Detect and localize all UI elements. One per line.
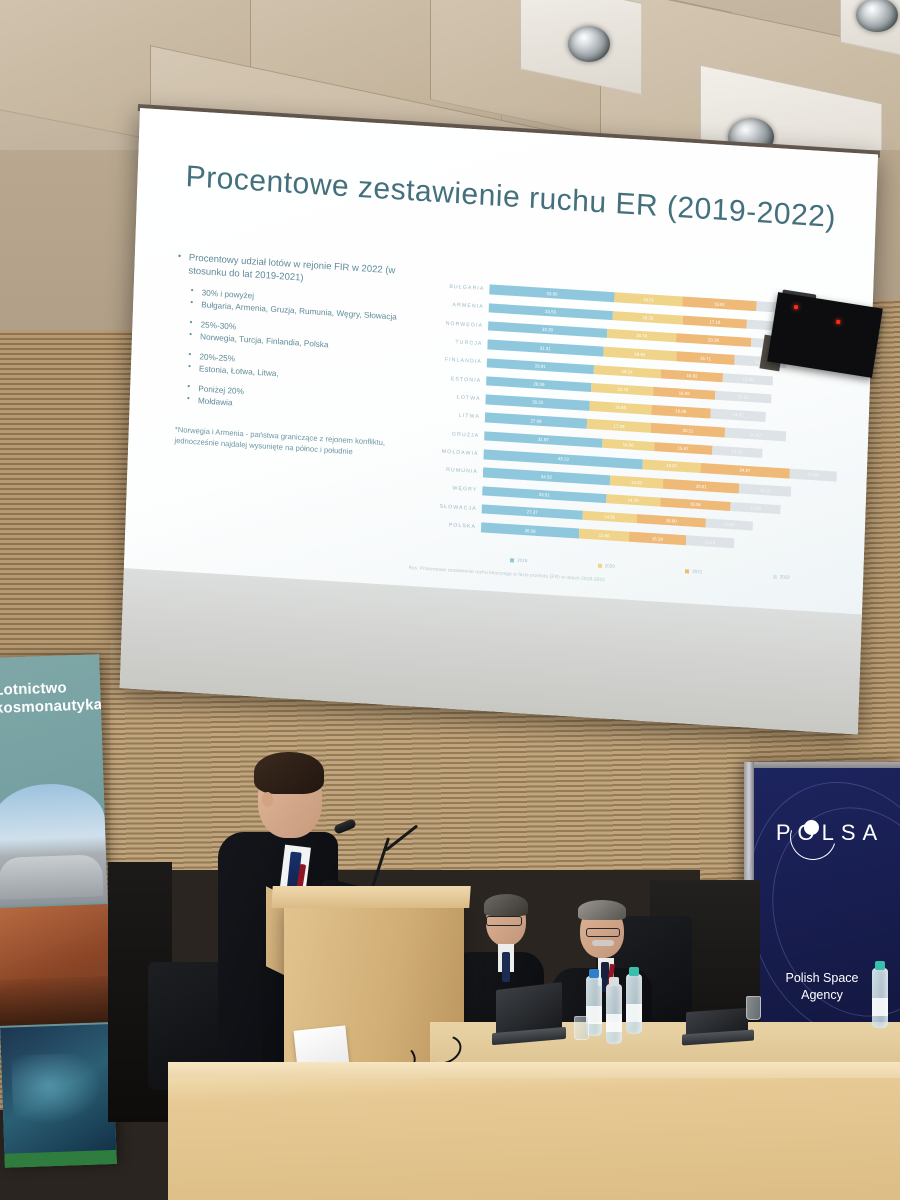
chart-legend-label: 2021 [692, 569, 702, 575]
chart-legend-item: 2021 [685, 568, 702, 574]
banner-left-accent-bar [4, 1150, 116, 1168]
banner-left-title: Lotnictwo kosmonautyka [0, 678, 99, 717]
chart-bar-segment: 16.92 [661, 369, 724, 382]
chart-bar-segment: 13.45 [723, 373, 773, 386]
chart-bar-segment: 15.67 [643, 459, 701, 472]
chart-bar-segment: 13.60 [730, 502, 781, 515]
chart-legend-item: 2019 [510, 557, 527, 563]
chart-bar-segment: 13.55 [712, 445, 762, 458]
chart-bar-segment: 14.06 [602, 439, 654, 452]
ceiling-downlight [568, 26, 610, 62]
chart-bar-segment: 26.58 [481, 523, 579, 539]
banner-right-top-rail [750, 762, 900, 768]
chart-category-label: POLSKA [414, 520, 481, 530]
banner-left-images [0, 782, 117, 1168]
glasses-icon [486, 916, 522, 926]
conference-hall-photo: Procentowe zestawienie ruchu ER (2019-20… [0, 0, 900, 1200]
led-indicator-icon [794, 305, 799, 310]
chart-category-label: SŁOWACJA [415, 502, 482, 512]
chart-category-label: MOŁDAWIA [417, 447, 484, 457]
chart-category-label: WĘGRY [415, 484, 482, 494]
chart-legend-swatch [598, 563, 602, 567]
chart-legend-item: 2022 [773, 574, 790, 580]
glasses-icon [586, 928, 620, 937]
chart-bar-segment: 16.75 [592, 383, 654, 396]
chart-legend-swatch [773, 574, 777, 578]
drinking-glass [746, 996, 761, 1020]
chart-bar-segment: 18.24 [593, 365, 661, 379]
chart-legend-swatch [685, 569, 689, 573]
chart-category-label: NORWEGIA [421, 319, 488, 329]
chart-legend-label: 2019 [517, 558, 527, 564]
chart-bar-segment: 13.10 [685, 535, 734, 548]
chart-bar-segment: 14.55 [583, 511, 637, 524]
chart-legend: 2019202020212022 [475, 555, 825, 582]
chart-bar-segment: 16.40 [725, 428, 786, 441]
chart-bar-segment: 18.51 [614, 293, 683, 307]
chart-bar-segment: 12.80 [789, 469, 837, 481]
chart-bar-segment: 27.69 [485, 413, 587, 429]
banner-photo-control-room [0, 1024, 116, 1158]
chart-bar-segment: 24.07 [700, 463, 789, 478]
moustache [592, 940, 614, 946]
led-indicator-icon [836, 320, 841, 325]
chart-bar-segment: 14.10 [739, 484, 791, 497]
slide-footnote: *Norwegia i Armenia - państwa graniczące… [174, 425, 404, 460]
water-bottle [606, 984, 622, 1044]
chart-legend-swatch [510, 558, 514, 562]
chart-bar-segment: 15.71 [676, 352, 734, 365]
chart-bar-segment: 18.74 [607, 329, 676, 343]
panel-table-front [168, 1078, 900, 1200]
chart-bar-segment: 16.68 [590, 401, 652, 414]
chart-bar-segment: 17.29 [587, 419, 651, 433]
drinking-glass [574, 1016, 589, 1040]
chart-category-label: ESTONIA [419, 374, 486, 384]
chart-bar-segment: 19.06 [660, 497, 731, 511]
chart-bar-segment: 28.22 [485, 395, 589, 411]
chart-category-label: BUŁGARIA [422, 282, 489, 292]
chart-category-label: ARMENIA [422, 301, 489, 311]
chart-category-label: GRUZJA [417, 429, 484, 439]
chart-legend-label: 2022 [780, 574, 790, 580]
chart-category-label: ŁOTWA [418, 392, 485, 402]
chart-bar-segment: 20.61 [663, 479, 739, 493]
banner-left-title-line2: kosmonautyka [0, 696, 99, 717]
banner-lotnictwo-kosmonautyka: Lotnictwo kosmonautyka [0, 654, 117, 1168]
projection-screen: Procentowe zestawienie ruchu ER (2019-20… [120, 108, 878, 734]
chart-bar-segment: 15.67 [654, 442, 712, 455]
water-bottle [872, 968, 888, 1028]
chart-bar-segment: 13.56 [579, 529, 629, 542]
chart-legend-label: 2020 [605, 563, 615, 569]
chart-category-label: RUMUNIA [416, 465, 483, 475]
chart-bar-segment: 18.90 [636, 514, 706, 528]
bullet-item: Procentowy udział lotów w rejonie FIR w … [188, 251, 410, 292]
speaker-ear [262, 792, 273, 807]
chart-bar-segment: 12.50 [706, 518, 752, 530]
chart-category-label: LITWA [418, 410, 485, 420]
banner-photo-airport [0, 782, 108, 906]
chart-bar-segment: 19.93 [603, 347, 677, 361]
slide-bullet-list: Procentowy udział lotów w rejonie FIR w … [168, 251, 410, 461]
chart-bar-segment: 28.91 [487, 358, 594, 374]
slide-title: Procentowe zestawienie ruchu ER (2019-20… [185, 155, 847, 240]
chart-category-label: TURCJA [420, 337, 487, 347]
speaker-hair [254, 752, 324, 794]
chart-legend-item: 2020 [598, 563, 615, 569]
chart-bar-segment: 15.29 [629, 532, 686, 545]
chart-bar-segment: 16.06 [651, 405, 711, 418]
chart-bar-segment: 16.65 [653, 387, 715, 400]
chart-bar-segment: 27.37 [482, 504, 583, 520]
chart-bar-segment: 20.26 [676, 333, 751, 347]
podium-top-surface [271, 886, 471, 908]
chart-bar-segment: 14.92 [710, 409, 765, 422]
banner-photo-mars [0, 904, 112, 1026]
chart-bar-segment: 17.19 [683, 315, 747, 328]
chart-category-label: FINLANDIA [420, 355, 487, 365]
chart-bar-segment: 15.30 [715, 391, 772, 404]
chart-bar-segment: 19.91 [683, 297, 757, 311]
chart-bar-segment: 28.59 [486, 376, 592, 392]
chart-bar-segment: 14.70 [606, 494, 661, 507]
water-bottle [626, 974, 642, 1034]
chart-bar-segment: 19.20 [612, 311, 683, 325]
chart-bar-segment: 14.53 [609, 476, 663, 489]
chart-bar-segment: 20.11 [651, 423, 726, 437]
